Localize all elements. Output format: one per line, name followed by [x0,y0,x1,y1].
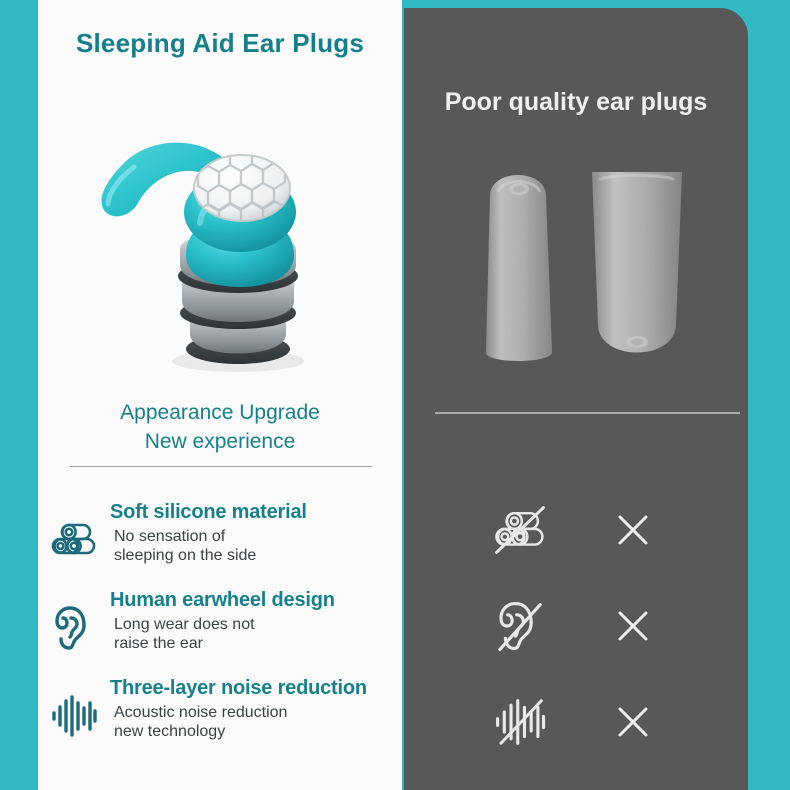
section-divider [70,466,372,467]
feature-list: Soft silicone material No sensation of s… [38,500,402,764]
feature-title: Three-layer noise reduction [110,676,396,700]
drawback-row-silicone [404,482,748,578]
feature-description: Long wear does not raise the ear [110,615,396,653]
sound-wave-crossed-icon [490,692,550,752]
feature-item-earwheel-design: Human earwheel design Long wear does not… [38,588,402,676]
silicone-tubes-crossed-icon [490,500,550,560]
foam-earplugs-image [454,156,704,386]
x-mark-icon [610,699,656,745]
x-mark-icon [610,603,656,649]
comparison-title: Poor quality ear plugs [404,88,748,117]
sound-wave-icon [46,688,102,744]
drawback-list [404,482,748,770]
tagline: Appearance Upgrade New experience [38,398,402,456]
page-title: Sleeping Aid Ear Plugs [38,28,402,59]
drawback-row-noise [404,674,748,770]
left-product-panel: Sleeping Aid Ear Plugs [38,0,402,790]
x-mark-icon [610,507,656,553]
feature-description: Acoustic noise reduction new technology [110,703,396,741]
feature-title: Human earwheel design [110,588,396,612]
ear-icon [46,600,102,656]
tagline-line-2: New experience [38,427,402,456]
product-image [90,115,360,380]
ear-crossed-icon [490,596,550,656]
promo-banner: Sleeping Aid Ear Plugs [0,0,790,790]
right-comparison-panel: Poor quality ear plugs [404,8,748,790]
drawback-row-ear [404,578,748,674]
feature-item-soft-silicone: Soft silicone material No sensation of s… [38,500,402,588]
silicone-tubes-icon [46,512,102,568]
feature-description: No sensation of sleeping on the side [110,527,396,565]
tagline-line-1: Appearance Upgrade [38,398,402,427]
comparison-divider [435,412,740,414]
feature-title: Soft silicone material [110,500,396,524]
feature-item-noise-reduction: Three-layer noise reduction Acoustic noi… [38,676,402,764]
